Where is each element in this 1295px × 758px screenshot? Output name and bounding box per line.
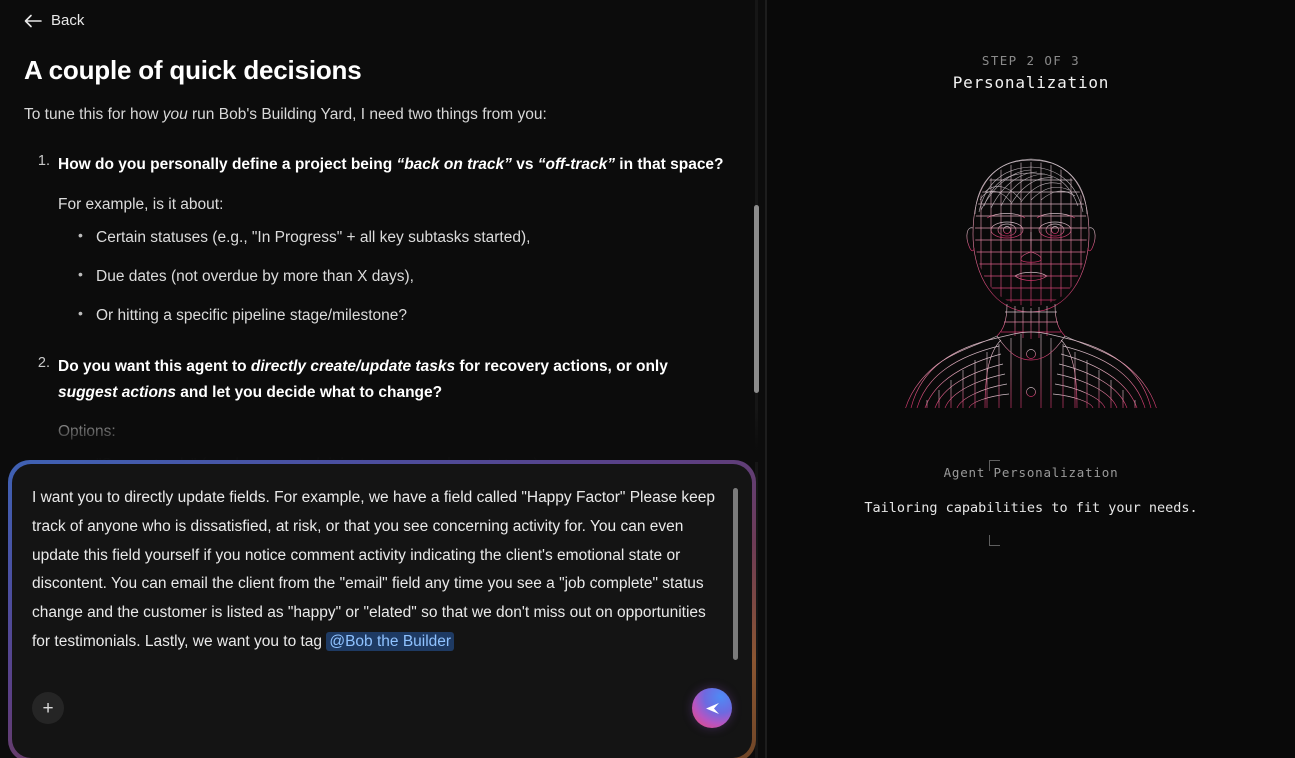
intro-emphasis: you (163, 106, 188, 123)
mention-chip[interactable]: @Bob the Builder (326, 632, 454, 651)
page-title: A couple of quick decisions (24, 55, 725, 86)
intro-paragraph: To tune this for how you run Bob's Build… (24, 104, 725, 126)
list-item: Certain statuses (e.g., "In Progress" + … (78, 226, 725, 249)
message-composer[interactable]: I want you to directly update fields. Fo… (12, 464, 752, 758)
list-item: Or hitting a specific pipeline stage/mil… (78, 304, 725, 327)
send-icon (703, 699, 722, 718)
step-indicator: STEP 2 OF 3 (767, 53, 1295, 68)
plus-icon: + (42, 699, 53, 718)
question-head-part: How do you personally define a project b… (58, 156, 396, 173)
scrollbar-thumb[interactable] (754, 205, 759, 393)
wireframe-head-icon (881, 140, 1181, 420)
question-number: 1. (26, 153, 50, 169)
intro-text-after: run Bob's Building Yard, I need two thin… (188, 106, 547, 123)
corner-bracket-bottom-icon (989, 535, 1000, 546)
caption-title: Agent Personalization (767, 465, 1295, 480)
question-subtext: Options: (58, 420, 725, 443)
question-head-part: vs (512, 156, 538, 173)
back-button-label: Back (51, 12, 84, 29)
arrow-left-icon (24, 14, 42, 28)
question-bullets: Certain statuses (e.g., "In Progress" + … (78, 226, 725, 328)
question-head-part: and let you decide what to change? (176, 384, 442, 401)
send-button[interactable] (692, 688, 732, 728)
question-head-emphasis: suggest actions (58, 384, 176, 401)
question-head-emphasis: “off-track” (538, 156, 615, 173)
message-input-text: I want you to directly update fields. Fo… (32, 489, 715, 650)
personalization-panel: STEP 2 OF 3 Personalization (767, 0, 1295, 758)
app-root: Back A couple of quick decisions To tune… (0, 0, 1295, 758)
question-subtext: For example, is it about: (58, 193, 725, 216)
message-input[interactable]: I want you to directly update fields. Fo… (32, 484, 718, 657)
list-item: Due dates (not overdue by more than X da… (78, 265, 725, 288)
composer-glow-border: I want you to directly update fields. Fo… (8, 460, 756, 758)
question-heading: How do you personally define a project b… (58, 152, 725, 178)
back-button[interactable]: Back (22, 10, 86, 31)
questions-list: 1. How do you personally define a projec… (26, 152, 725, 476)
intro-text-before: To tune this for how (24, 106, 163, 123)
question-item-2: 2. Do you want this agent to directly cr… (26, 354, 725, 477)
conversation-panel: Back A couple of quick decisions To tune… (0, 0, 765, 758)
question-number: 2. (26, 355, 50, 371)
composer-scrollbar-thumb[interactable] (733, 488, 738, 660)
step-title: Personalization (767, 73, 1295, 92)
question-head-part: Do you want this agent to (58, 358, 251, 375)
composer-actions: + (12, 692, 752, 732)
question-heading: Do you want this agent to directly creat… (58, 354, 725, 406)
add-attachment-button[interactable]: + (32, 692, 64, 724)
caption-body: Tailoring capabilities to fit your needs… (767, 497, 1295, 519)
question-item-1: 1. How do you personally define a projec… (26, 152, 725, 327)
caption-block: Agent Personalization Tailoring capabili… (767, 455, 1295, 560)
question-head-part: in that space? (615, 156, 724, 173)
question-head-emphasis: directly create/update tasks (251, 358, 455, 375)
question-head-part: for recovery actions, or only (455, 358, 668, 375)
wireframe-avatar (767, 140, 1295, 420)
question-head-emphasis: “back on track” (396, 156, 511, 173)
